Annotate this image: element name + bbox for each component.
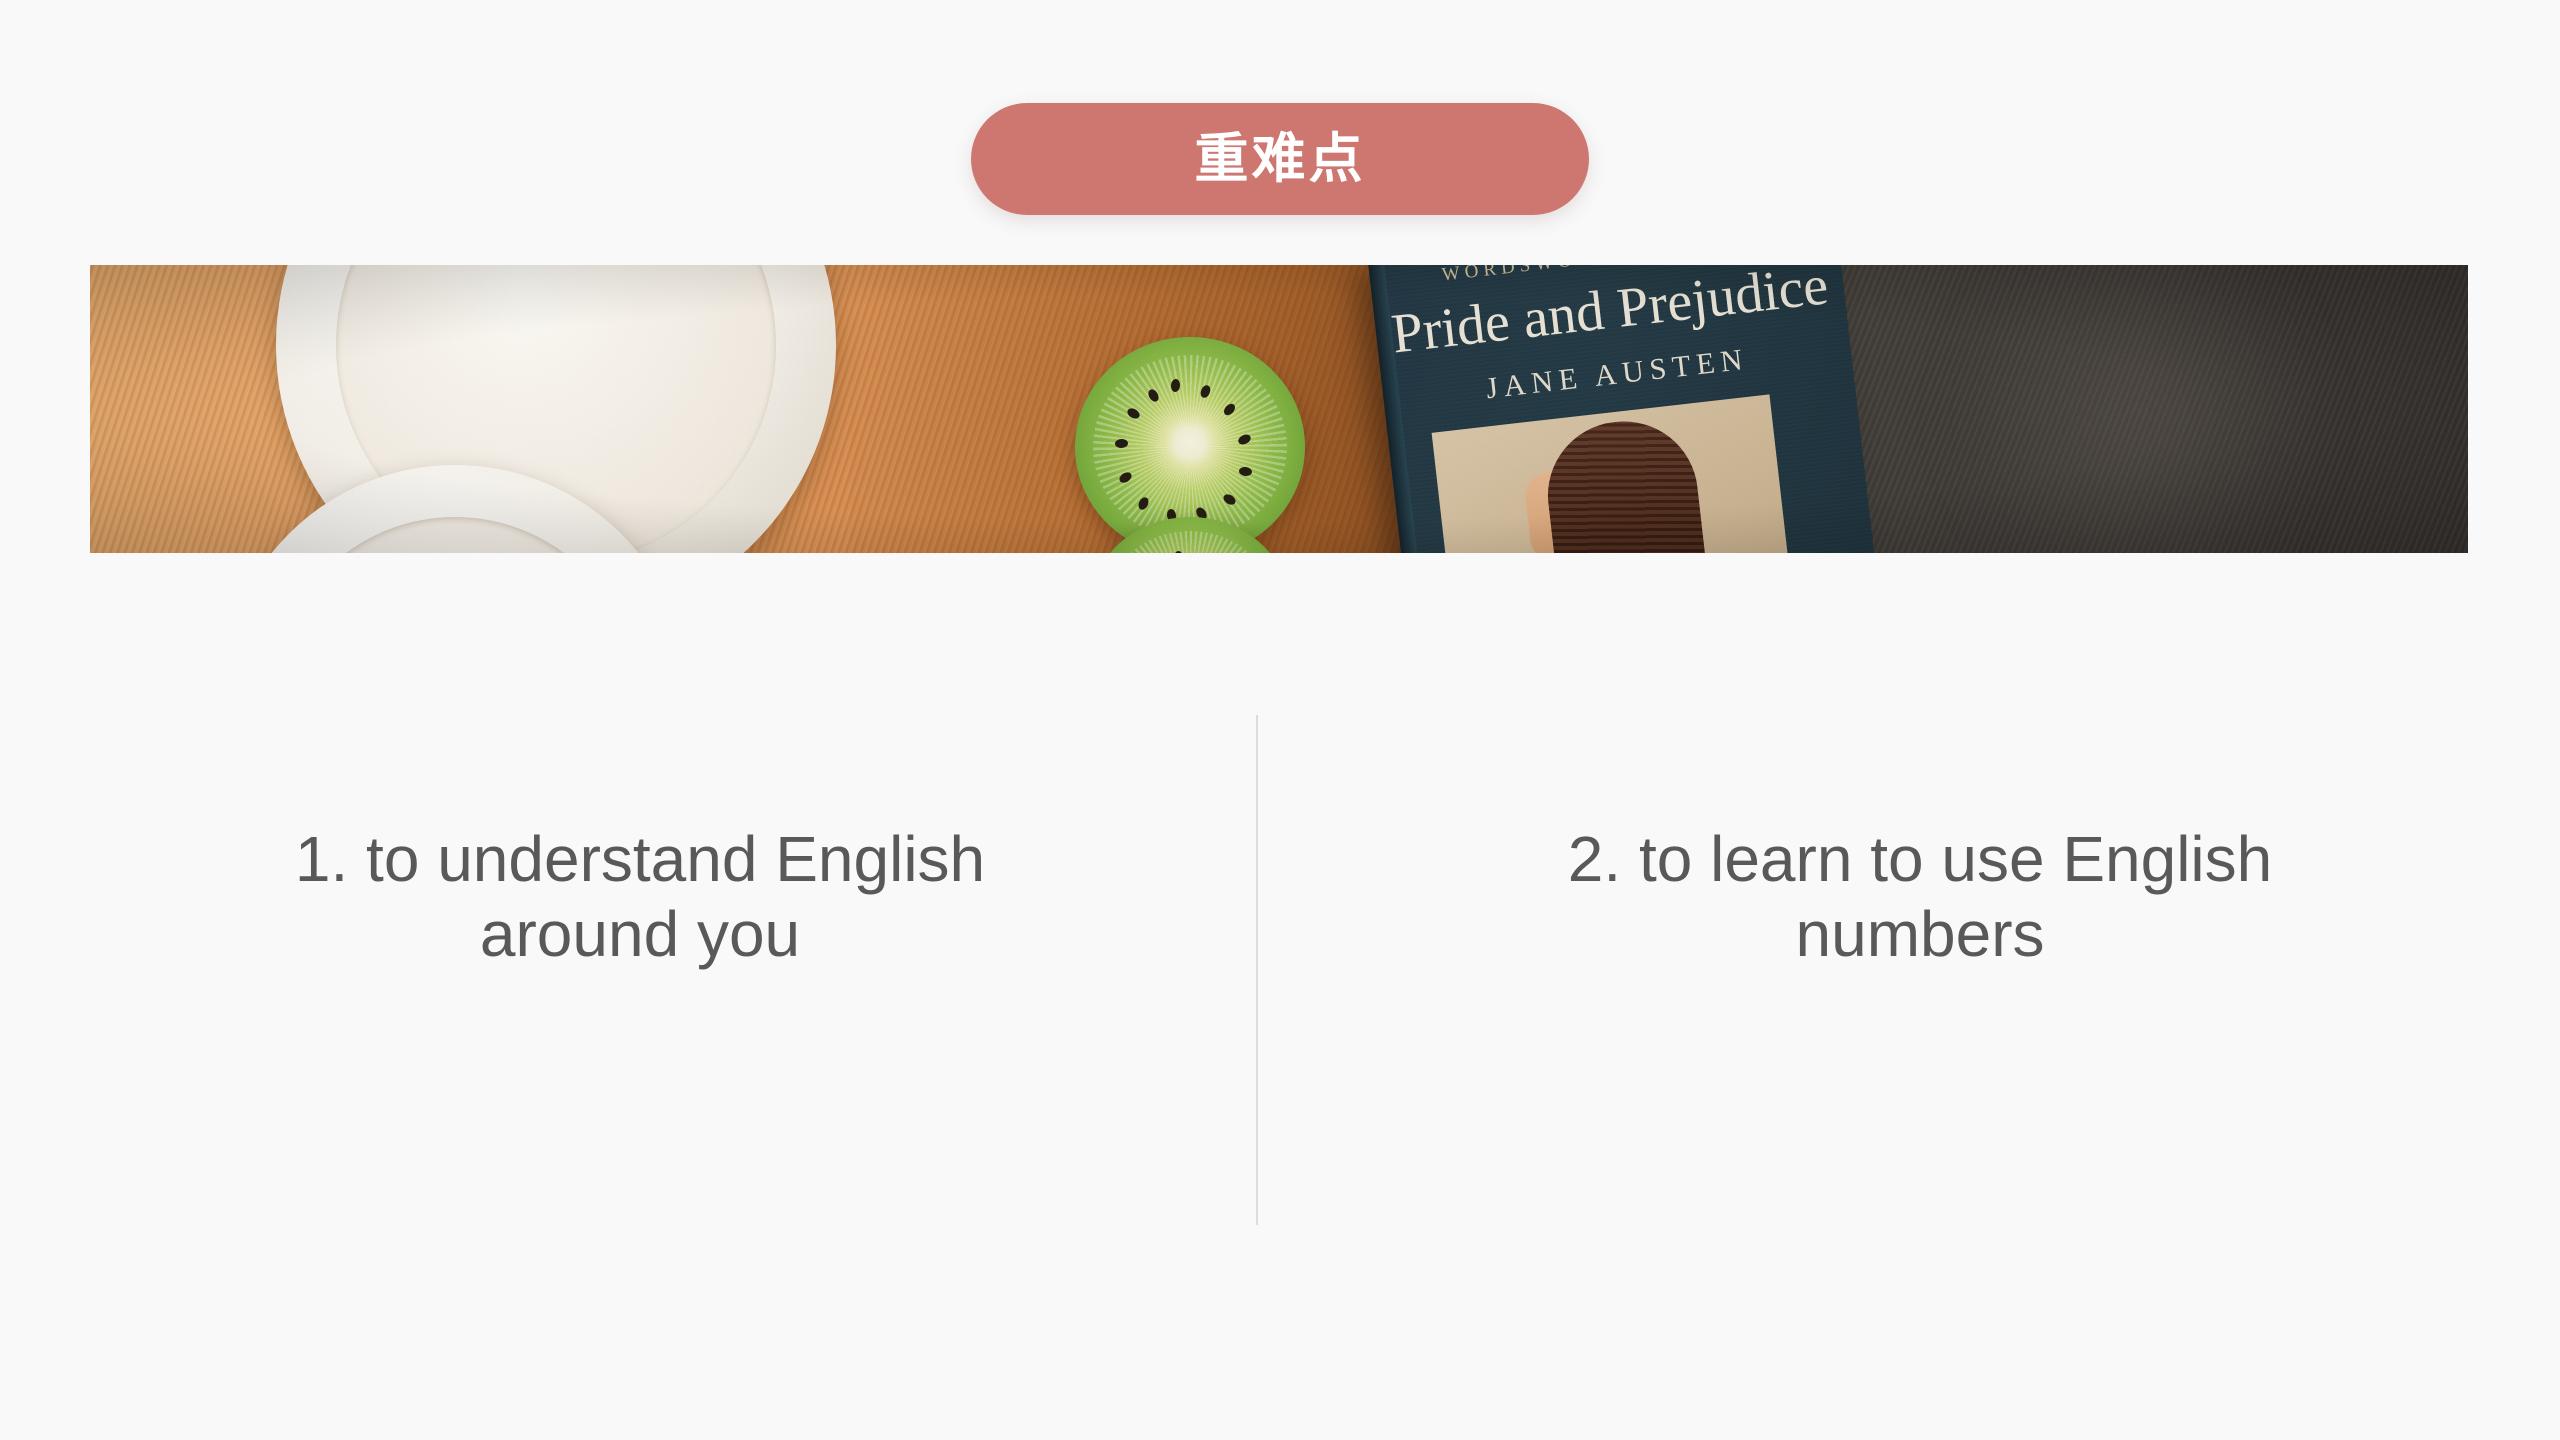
book-cover-artwork: [1432, 394, 1798, 553]
objectives-columns: 1. to understand English around you 2. t…: [0, 700, 2560, 1260]
objective-column-left: 1. to understand English around you: [0, 700, 1280, 972]
objective-text-2: 2. to learn to use English numbers: [1470, 822, 2370, 972]
section-badge-label: 重难点: [1195, 132, 1366, 186]
cloth-highlight: [1928, 265, 2348, 553]
objective-column-right: 2. to learn to use English numbers: [1280, 700, 2560, 972]
book-pride-and-prejudice: WORDSWORTH CLASSICS Pride and Prejudice …: [1368, 265, 1883, 553]
badge-row: 重难点: [0, 103, 2560, 215]
portrait-hair: [1540, 414, 1717, 553]
section-badge[interactable]: 重难点: [971, 103, 1589, 215]
photo-scene: WORDSWORTH CLASSICS Pride and Prejudice …: [90, 265, 2468, 553]
column-divider: [1256, 715, 1258, 1225]
objective-text-1: 1. to understand English around you: [190, 822, 1090, 972]
plate-inner-well: [272, 517, 638, 553]
kiwi-rays: [1106, 531, 1274, 553]
banner-photo: WORDSWORTH CLASSICS Pride and Prejudice …: [90, 265, 2468, 553]
